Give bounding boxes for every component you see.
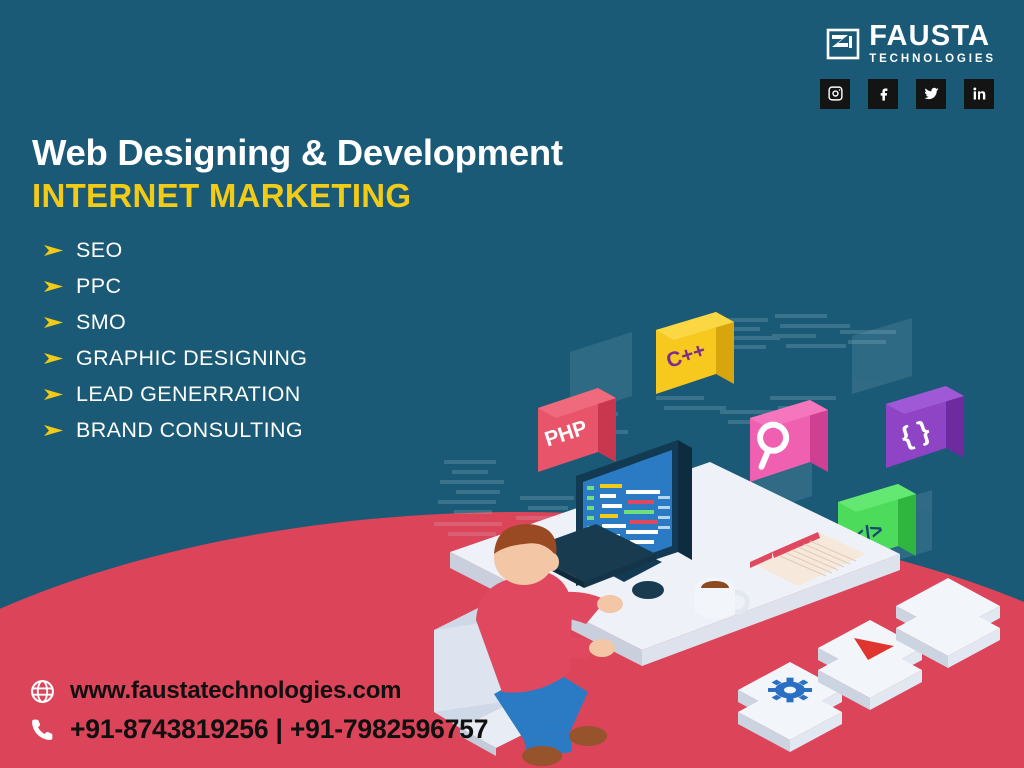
globe-icon xyxy=(30,679,55,704)
social-links xyxy=(820,79,994,109)
phone-row[interactable]: +91-8743819256 | +91-7982596757 xyxy=(30,710,488,748)
logo[interactable]: FAUSTA TECHNOLOGIES xyxy=(826,22,996,66)
services-list: SEO PPC SMO GRAPHIC DESIGNING LEAD GENER… xyxy=(44,232,307,448)
isometric-illustration: PHP C++ xyxy=(420,300,1024,768)
linkedin-icon[interactable] xyxy=(964,79,994,109)
list-item: SMO xyxy=(44,304,307,340)
facebook-icon[interactable] xyxy=(868,79,898,109)
list-item: GRAPHIC DESIGNING xyxy=(44,340,307,376)
header: FAUSTA TECHNOLOGIES xyxy=(820,22,996,109)
website-row[interactable]: www.faustatechnologies.com xyxy=(30,672,488,710)
heading-primary: Web Designing & Development xyxy=(32,133,563,172)
service-label: SEO xyxy=(76,238,123,263)
banner-canvas: PHP C++ xyxy=(0,0,1024,768)
list-item: LEAD GENERRATION xyxy=(44,376,307,412)
braces-card: { } xyxy=(886,386,964,468)
arrow-right-icon xyxy=(44,316,63,329)
service-label: PPC xyxy=(76,274,121,299)
list-item: PPC xyxy=(44,268,307,304)
headings: Web Designing & Development INTERNET MAR… xyxy=(32,133,563,215)
arrow-right-icon xyxy=(44,352,63,365)
arrow-right-icon xyxy=(44,424,63,437)
phone-text: +91-8743819256 | +91-7982596757 xyxy=(70,714,488,745)
arrow-right-icon xyxy=(44,280,63,293)
service-label: BRAND CONSULTING xyxy=(76,418,303,443)
footer-contact: www.faustatechnologies.com +91-874381925… xyxy=(30,672,488,748)
fausta-f-square-icon xyxy=(826,27,860,61)
heading-secondary: INTERNET MARKETING xyxy=(32,177,563,215)
twitter-icon[interactable] xyxy=(916,79,946,109)
website-text: www.faustatechnologies.com xyxy=(70,677,401,705)
arrow-right-icon xyxy=(44,244,63,257)
service-label: GRAPHIC DESIGNING xyxy=(76,346,307,371)
instagram-icon[interactable] xyxy=(820,79,850,109)
mouse xyxy=(632,581,664,599)
logo-name: FAUSTA xyxy=(869,22,990,51)
list-item: SEO xyxy=(44,232,307,268)
phone-icon xyxy=(30,717,55,742)
list-item: BRAND CONSULTING xyxy=(44,412,307,448)
logo-tagline: TECHNOLOGIES xyxy=(869,54,996,66)
php-card: PHP xyxy=(538,388,616,472)
gear-icon xyxy=(768,678,812,703)
service-label: LEAD GENERRATION xyxy=(76,382,301,407)
arrow-right-icon xyxy=(44,388,63,401)
service-label: SMO xyxy=(76,310,126,335)
cpp-card: C++ xyxy=(656,312,734,394)
